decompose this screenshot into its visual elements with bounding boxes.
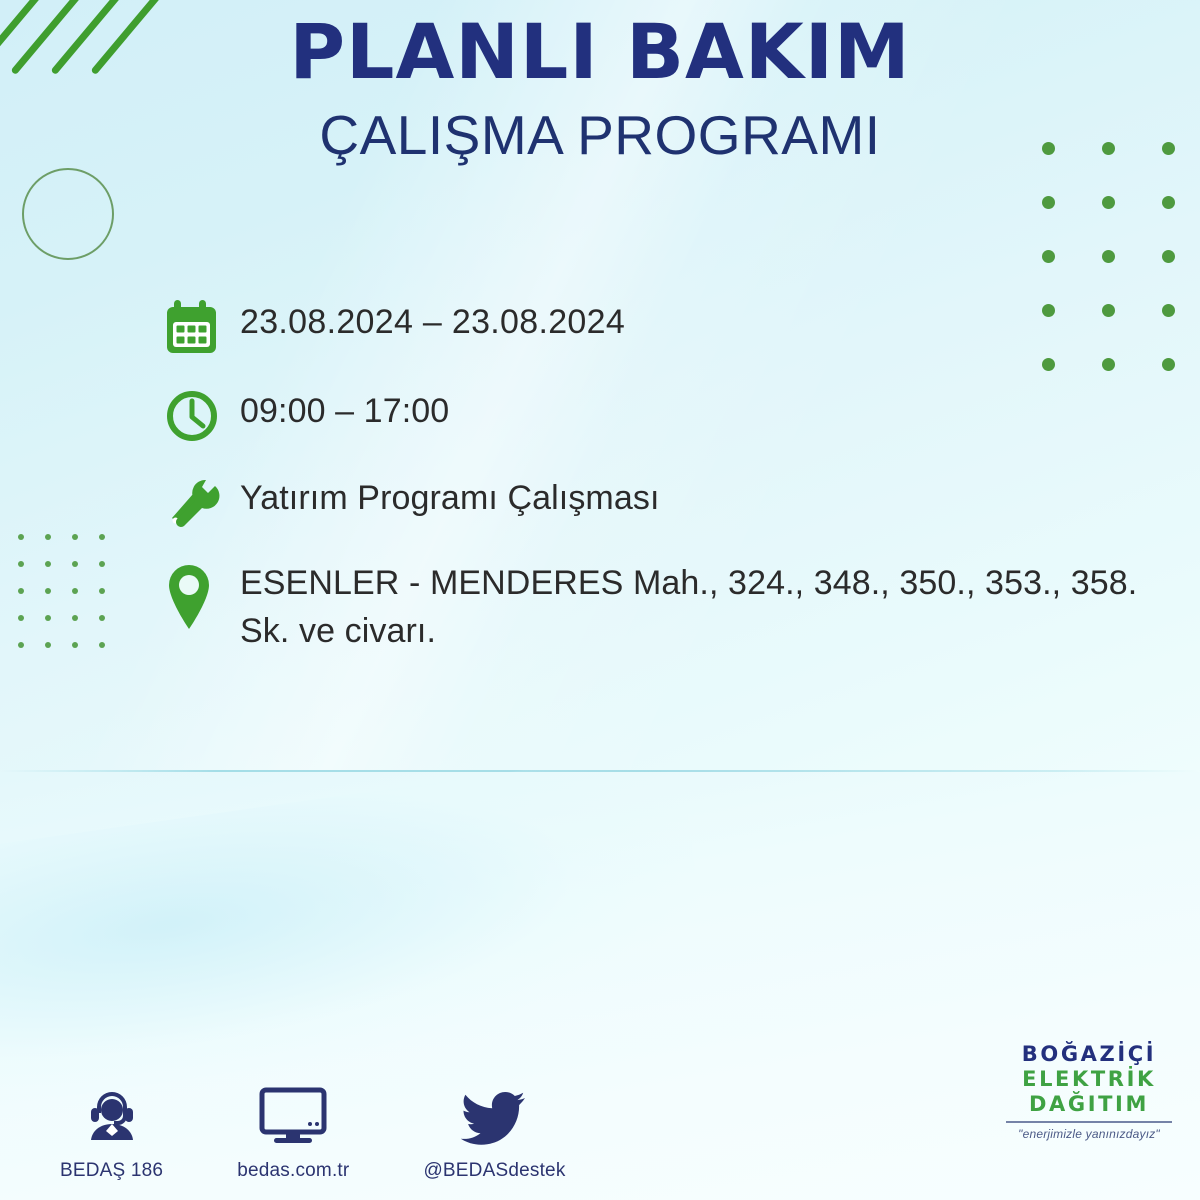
logo-line-bogazici: BOĞAZİÇİ (1004, 1042, 1174, 1067)
page-header: PLANLI BAKIM ÇALIŞMA PROGRAMI (0, 14, 1200, 172)
footer-item-twitter[interactable]: @BEDASdestek (423, 1086, 565, 1182)
detail-row-work-type: Yatırım Programı Çalışması (166, 472, 1166, 530)
dot-grid-left-decoration (18, 534, 126, 669)
location-pin-icon (166, 557, 240, 631)
logo-line-elektrik: ELEKTRİK (1004, 1067, 1174, 1092)
page-title: PLANLI BAKIM (0, 14, 1200, 90)
outage-details: 23.08.2024 – 23.08.2024 09:00 – 17:00 Ya… (166, 296, 1166, 683)
detail-time-text: 09:00 – 17:00 (240, 385, 449, 435)
page-subtitle: ÇALIŞMA PROGRAMI (0, 98, 1200, 172)
monitor-icon (258, 1086, 328, 1148)
detail-location-text: ESENLER - MENDERES Mah., 324., 348., 350… (240, 557, 1140, 656)
detail-work-type-text: Yatırım Programı Çalışması (240, 472, 660, 522)
twitter-bird-icon (461, 1086, 527, 1148)
footer-item-website[interactable]: bedas.com.tr (237, 1086, 349, 1182)
logo-tagline: "enerjimizle yanınızdayız" (1004, 1127, 1174, 1141)
footer-contact-bar: BEDAŞ 186 bedas.com.tr @BEDASdestek (60, 1086, 566, 1182)
detail-row-location: ESENLER - MENDERES Mah., 324., 348., 350… (166, 557, 1166, 656)
footer-label-phone: BEDAŞ 186 (60, 1160, 163, 1182)
calendar-icon (166, 296, 240, 358)
tools-icon (166, 472, 240, 530)
detail-row-time: 09:00 – 17:00 (166, 385, 1166, 445)
logo-line-dagitim: DAĞITIM (1004, 1092, 1174, 1117)
footer-label-website: bedas.com.tr (237, 1160, 349, 1182)
detail-date-text: 23.08.2024 – 23.08.2024 (240, 296, 625, 346)
clock-icon (166, 385, 240, 445)
detail-row-date: 23.08.2024 – 23.08.2024 (166, 296, 1166, 358)
footer-item-phone[interactable]: BEDAŞ 186 (60, 1086, 163, 1182)
logo-rule (1006, 1121, 1172, 1123)
bedas-logo: BOĞAZİÇİ ELEKTRİK DAĞITIM "enerjimizle y… (1004, 1042, 1174, 1141)
support-agent-icon (81, 1086, 143, 1148)
circle-outline-decoration (22, 168, 114, 260)
footer-label-twitter: @BEDASdestek (423, 1160, 565, 1182)
